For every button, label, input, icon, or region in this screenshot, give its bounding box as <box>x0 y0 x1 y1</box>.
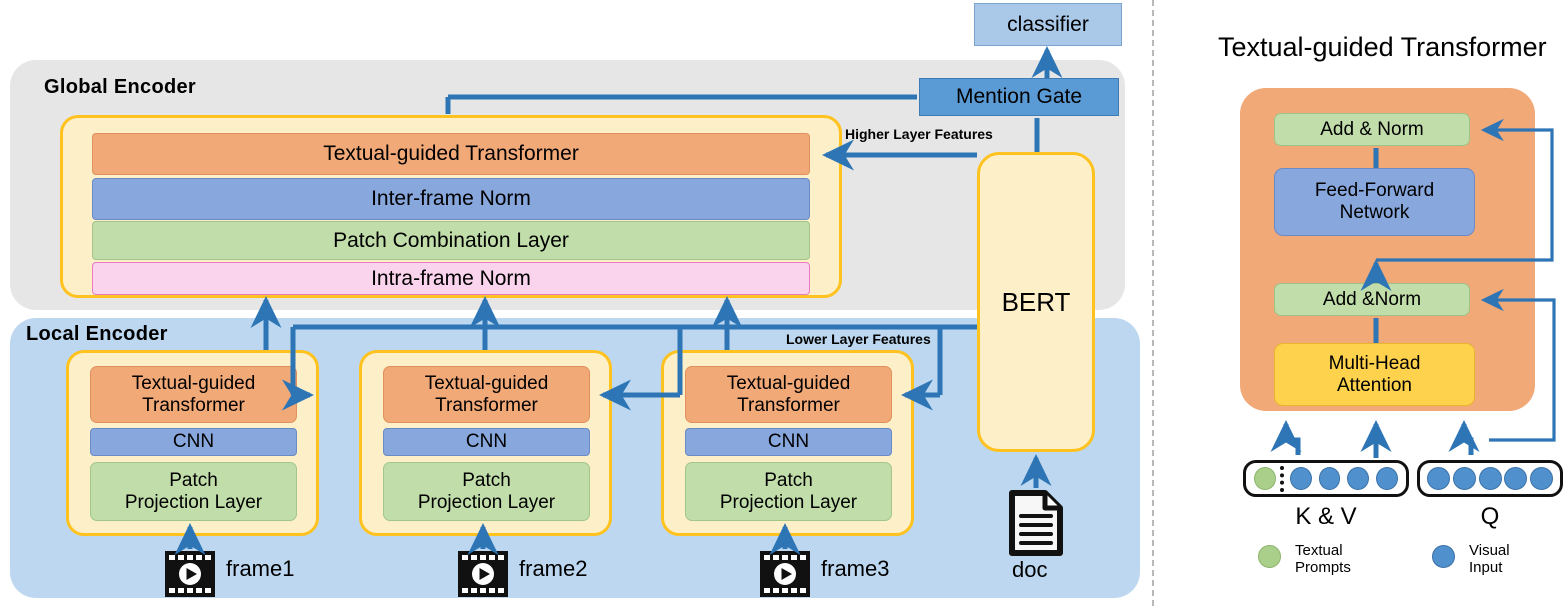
global-layer-intra-frame-norm[interactable]: Intra-frame Norm <box>92 262 810 295</box>
bert-box[interactable]: BERT <box>977 152 1095 452</box>
local-branch-1-cnn[interactable]: CNN <box>90 428 297 456</box>
local-branch-3-patch-projection-layer[interactable]: Patch Projection Layer <box>685 462 892 521</box>
label-line: Textual-guided <box>132 373 256 394</box>
token-dot-visual <box>1504 467 1527 490</box>
token-dot-visual <box>1376 467 1398 490</box>
lower-layer-features-label: Lower Layer Features <box>786 331 931 347</box>
add-and-norm-top-box[interactable]: Add & Norm <box>1274 113 1470 146</box>
token-dot-visual <box>1290 467 1312 490</box>
document-icon <box>1008 490 1064 561</box>
label-line: Projection Layer <box>125 492 262 513</box>
token-dot-textual <box>1254 467 1276 490</box>
label-line: Visual <box>1469 542 1568 559</box>
legend-dot-textual <box>1258 545 1281 573</box>
local-branch-3-cnn[interactable]: CNN <box>685 428 892 456</box>
token-separator <box>1280 466 1284 492</box>
label-line: Transformer <box>435 395 538 416</box>
doc-label: doc <box>1012 557 1047 583</box>
local-branch-2-textual-guided-transformer[interactable]: Textual-guided Transformer <box>383 366 590 423</box>
mention-gate-box[interactable]: Mention Gate <box>919 78 1119 116</box>
global-layer-inter-frame-norm[interactable]: Inter-frame Norm <box>92 178 810 220</box>
right-panel-title: Textual-guided Transformer <box>1218 32 1547 63</box>
local-branch-1-patch-projection-layer[interactable]: Patch Projection Layer <box>90 462 297 521</box>
diagram-canvas: Global Encoder Local Encoder Textual-gui… <box>0 0 1568 606</box>
token-dot-visual <box>1347 467 1369 490</box>
local-branch-2-patch-projection-layer[interactable]: Patch Projection Layer <box>383 462 590 521</box>
frame3-label: frame3 <box>821 556 889 582</box>
local-encoder-title: Local Encoder <box>26 323 168 346</box>
classifier-box[interactable]: classifier <box>974 3 1122 46</box>
q-label: Q <box>1417 503 1563 531</box>
legend-visual-input-label: Visual Input <box>1469 542 1568 577</box>
film-frame-icon <box>458 551 508 602</box>
add-and-norm-bottom-box[interactable]: Add &Norm <box>1274 283 1470 316</box>
label-line: Network <box>1315 202 1434 224</box>
label-line: Transformer <box>142 395 245 416</box>
kv-token-box[interactable] <box>1243 460 1409 497</box>
label-line: Feed-Forward <box>1315 180 1434 202</box>
local-branch-3-textual-guided-transformer[interactable]: Textual-guided Transformer <box>685 366 892 423</box>
legend-dot-visual <box>1432 545 1455 573</box>
token-dot-visual <box>1479 467 1502 490</box>
label-line: Patch <box>462 470 511 491</box>
label-line: Prompts <box>1295 559 1405 576</box>
token-dot-visual <box>1319 467 1341 490</box>
film-frame-icon <box>165 551 215 602</box>
label-line: Patch <box>169 470 218 491</box>
global-layer-textual-guided-transformer[interactable]: Textual-guided Transformer <box>92 133 810 175</box>
higher-layer-features-label: Higher Layer Features <box>845 126 993 142</box>
local-branch-2-cnn[interactable]: CNN <box>383 428 590 456</box>
label-line: Multi-Head <box>1329 353 1421 375</box>
token-dot-visual <box>1427 467 1450 490</box>
local-branch-1-textual-guided-transformer[interactable]: Textual-guided Transformer <box>90 366 297 423</box>
label-line: Transformer <box>737 395 840 416</box>
label-line: Projection Layer <box>720 492 857 513</box>
kv-label: K & V <box>1243 503 1409 531</box>
label-line: Textual <box>1295 542 1405 559</box>
global-layer-patch-combination-layer[interactable]: Patch Combination Layer <box>92 221 810 260</box>
label-line: Input <box>1469 559 1568 576</box>
label-line: Textual-guided <box>727 373 851 394</box>
label-line: Textual-guided <box>425 373 549 394</box>
token-dot-visual <box>1530 467 1553 490</box>
q-token-box[interactable] <box>1417 460 1563 497</box>
label-line: Patch <box>764 470 813 491</box>
panel-divider <box>1152 0 1154 606</box>
frame1-label: frame1 <box>226 556 294 582</box>
frame2-label: frame2 <box>519 556 587 582</box>
legend-textual-prompts-label: Textual Prompts <box>1295 542 1405 577</box>
label-line: Attention <box>1329 375 1421 397</box>
film-frame-icon <box>760 551 810 602</box>
feed-forward-network-box[interactable]: Feed-Forward Network <box>1274 168 1475 236</box>
token-dot-visual <box>1453 467 1476 490</box>
multi-head-attention-box[interactable]: Multi-Head Attention <box>1274 343 1475 406</box>
label-line: Projection Layer <box>418 492 555 513</box>
global-encoder-title: Global Encoder <box>44 76 196 99</box>
